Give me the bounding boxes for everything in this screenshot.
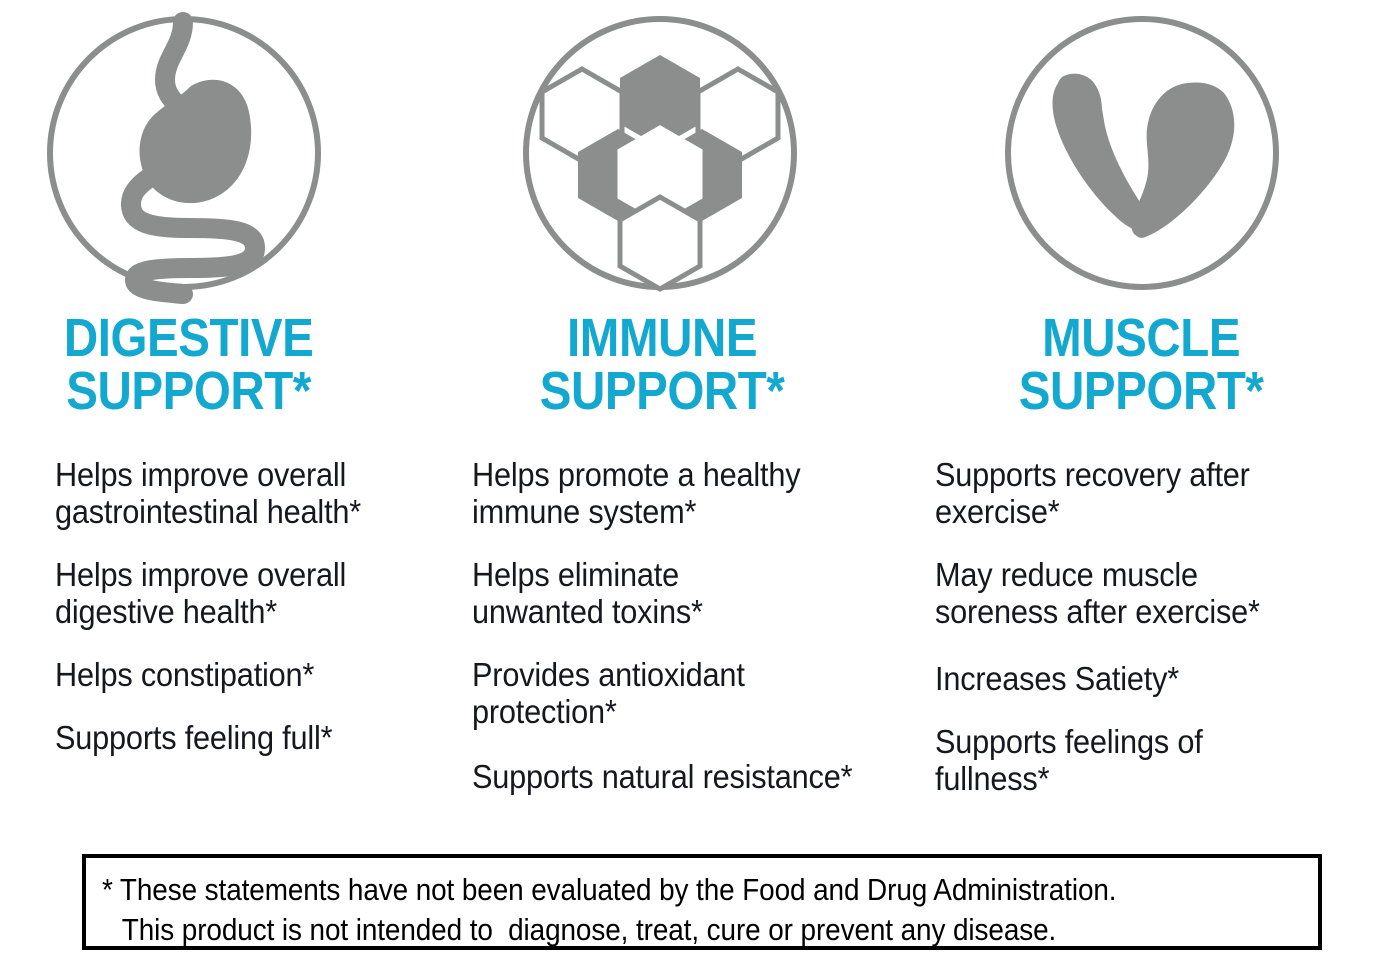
heading-muscle-support: MUSCLE SUPPORT* <box>938 312 1346 418</box>
benefit-item: Supports feelings of fullness* <box>935 724 1336 798</box>
benefit-item: Helps constipation* <box>55 657 396 694</box>
fda-disclaimer-box: * These statements have not been evaluat… <box>82 854 1322 950</box>
benefit-list-digestive: Helps improve overall gastrointestinal h… <box>0 457 430 757</box>
benefit-item: Helps improve overall gastrointestinal h… <box>55 457 396 531</box>
digestive-icon-circle <box>47 16 321 290</box>
digestive-stomach-icon <box>79 28 289 278</box>
muscle-icon-wrap <box>910 16 1374 290</box>
benefit-item: Provides antioxidant protection* <box>472 657 876 731</box>
benefit-item: Supports natural resistance* <box>472 759 876 796</box>
benefit-columns: DIGESTIVE SUPPORT* Helps improve overall… <box>0 0 1374 845</box>
muscle-icon-circle <box>1005 16 1279 290</box>
muscle-flexed-bicep-icon <box>1042 63 1242 243</box>
benefit-list-immune: Helps promote a healthy immune system* H… <box>430 457 910 796</box>
immune-icon-circle <box>523 16 797 290</box>
benefit-column-immune: IMMUNE SUPPORT* Helps promote a healthy … <box>430 0 910 845</box>
immune-icon-wrap <box>430 16 910 290</box>
disclaimer-line-1: * These statements have not been evaluat… <box>102 870 1182 910</box>
benefit-list-muscle: Supports recovery after exercise* May re… <box>910 457 1374 798</box>
heading-digestive-support: DIGESTIVE SUPPORT* <box>26 312 404 418</box>
immune-hexagon-molecule-icon <box>545 43 775 263</box>
benefit-column-digestive: DIGESTIVE SUPPORT* Helps improve overall… <box>0 0 430 845</box>
benefits-infographic: DIGESTIVE SUPPORT* Helps improve overall… <box>0 0 1374 966</box>
heading-immune-support: IMMUNE SUPPORT* <box>459 312 881 418</box>
benefit-item: Helps eliminate unwanted toxins* <box>472 557 876 631</box>
benefit-column-muscle: MUSCLE SUPPORT* Supports recovery after … <box>910 0 1374 845</box>
benefit-item: Helps improve overall digestive health* <box>55 557 396 631</box>
benefit-item: May reduce muscle soreness after exercis… <box>935 557 1336 631</box>
digestive-icon-wrap <box>0 16 430 290</box>
benefit-item: Supports feeling full* <box>55 720 396 757</box>
disclaimer-line-2: This product is not intended to diagnose… <box>102 910 1182 950</box>
benefit-item: Supports recovery after exercise* <box>935 457 1336 531</box>
benefit-item: Increases Satiety* <box>935 661 1336 698</box>
benefit-item: Helps promote a healthy immune system* <box>472 457 876 531</box>
